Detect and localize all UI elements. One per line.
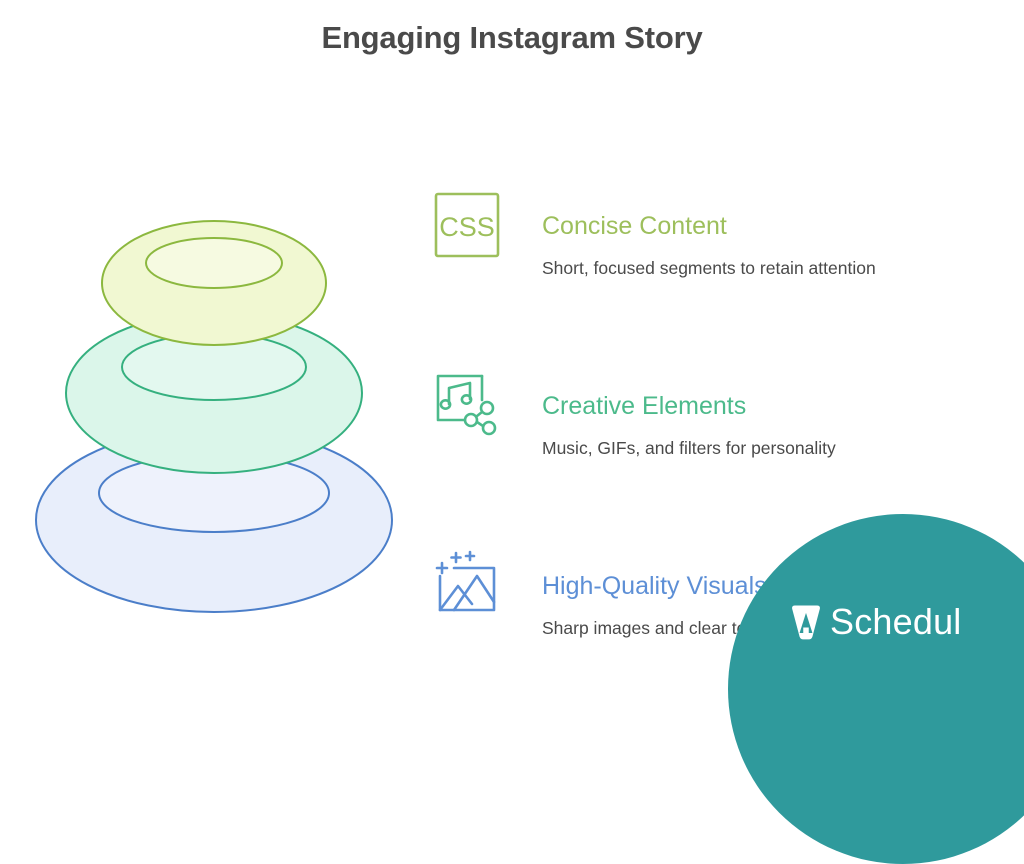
slide-canvas: Engaging Instagram Story	[0, 0, 1024, 768]
feature-description: Short, focused segments to retain attent…	[542, 257, 1002, 280]
feature-description: Music, GIFs, and filters for personality	[542, 437, 1002, 460]
feature-title: Concise Content	[542, 190, 1002, 241]
feature-title: Creative Elements	[542, 370, 1002, 421]
feature-item-creative-elements[interactable]: Creative Elements Music, GIFs, and filte…	[432, 370, 1002, 480]
css-code-icon: CSS	[432, 190, 502, 260]
brand-name: Schedul	[830, 604, 962, 640]
feature-text-block: Concise Content Short, focused segments …	[542, 190, 1002, 280]
page-title: Engaging Instagram Story	[0, 20, 1024, 56]
top-torus	[102, 221, 326, 345]
brand-lockup: Schedul	[784, 600, 962, 644]
music-share-icon	[432, 370, 502, 440]
image-sparkle-icon	[432, 550, 502, 620]
feature-item-concise-content[interactable]: CSS Concise Content Short, focused segme…	[432, 190, 1002, 300]
stacked-torus-diagram	[14, 215, 414, 645]
feature-text-block: Creative Elements Music, GIFs, and filte…	[542, 370, 1002, 460]
css-icon-label: CSS	[439, 212, 495, 242]
aischedul-logo-icon	[784, 600, 828, 644]
